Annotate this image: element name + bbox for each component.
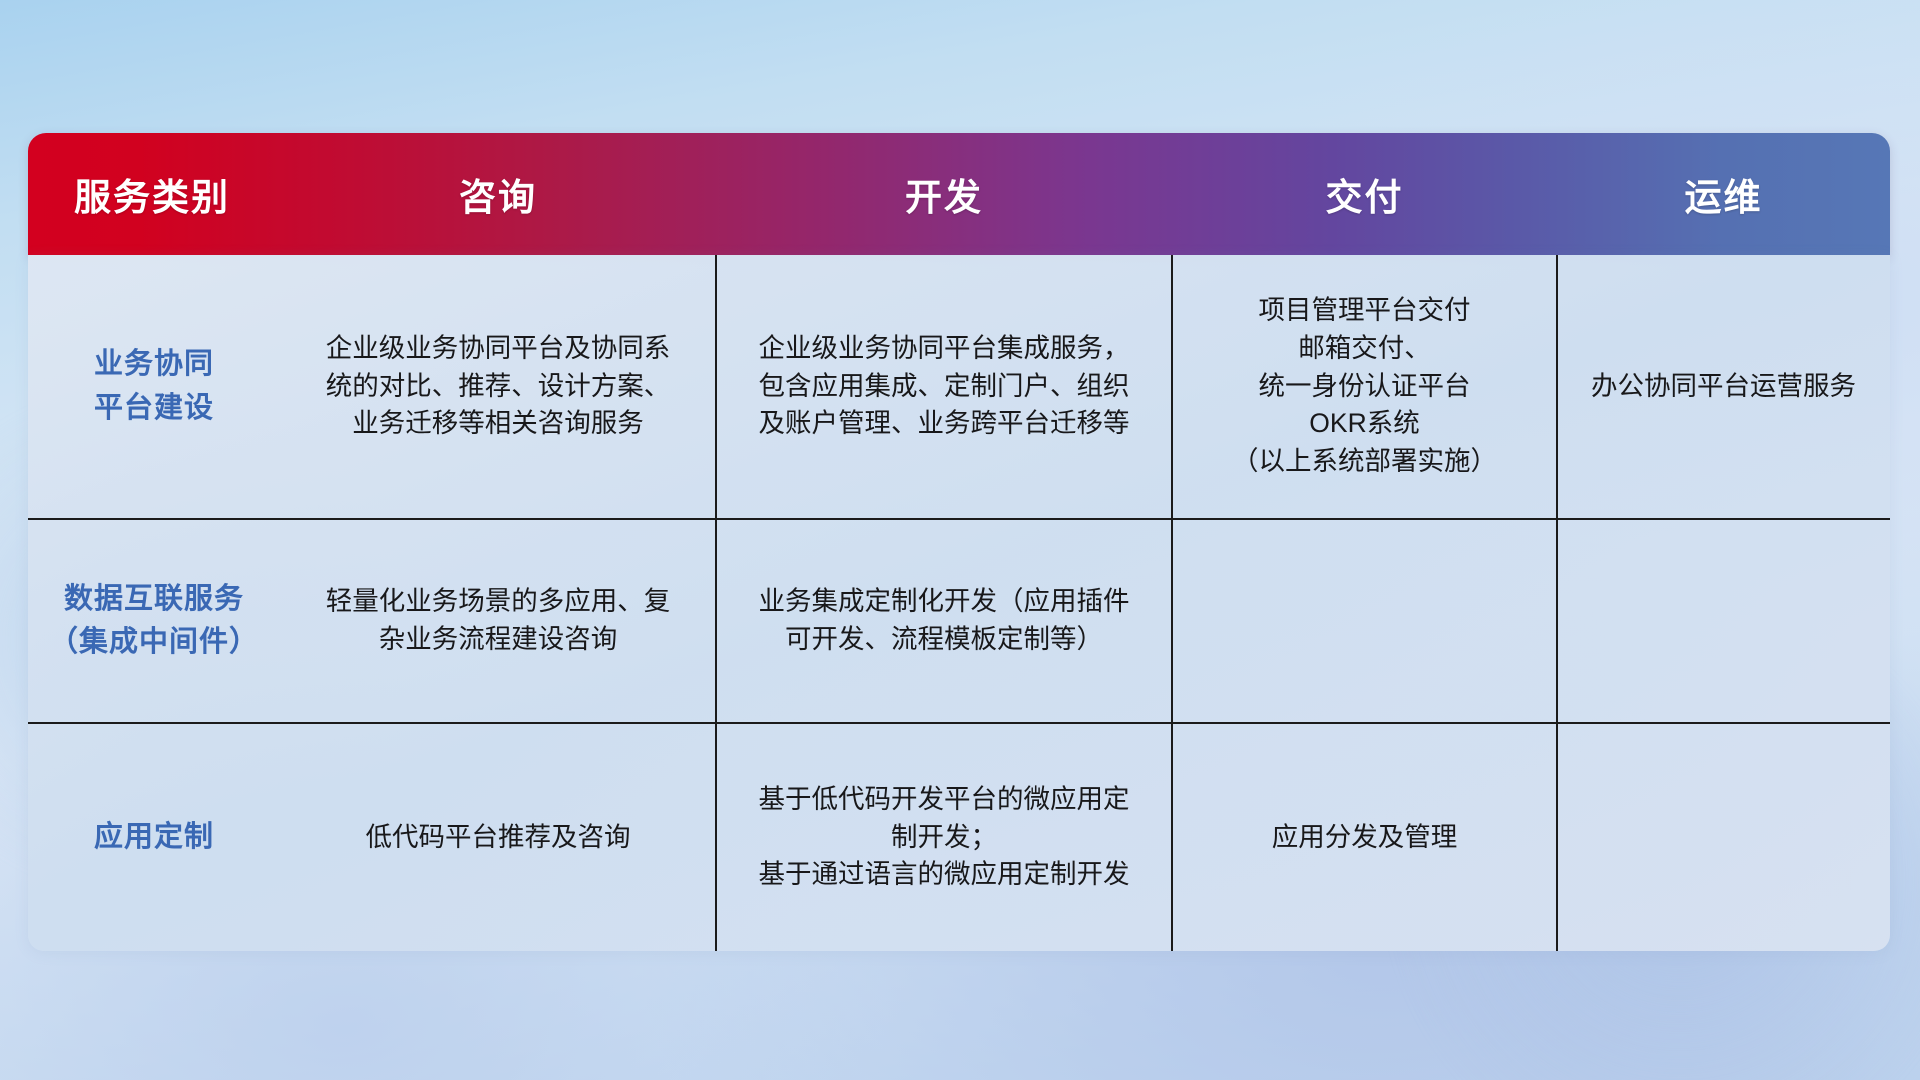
cell-row3-delivery: 应用分发及管理 (1172, 724, 1557, 951)
cell-row1-delivery: 项目管理平台交付 邮箱交付、 统一身份认证平台 OKR系统 （以上系统部署实施） (1172, 255, 1557, 518)
column-divider-1 (715, 255, 717, 951)
table-header-row: 服务类别 咨询 开发 交付 运维 (28, 133, 1890, 255)
table-row: 业务协同 平台建设 企业级业务协同平台及协同系 统的对比、推荐、设计方案、 业务… (28, 255, 1890, 518)
row-label-data-interconnect: 数据互联服务 （集成中间件） (28, 520, 280, 722)
cell-row2-delivery (1172, 520, 1557, 722)
row-label-business-collaboration: 业务协同 平台建设 (28, 255, 280, 518)
row-label-application-customization: 应用定制 (28, 724, 280, 951)
cell-row2-development: 业务集成定制化开发（应用插件 可开发、流程模板定制等） (716, 520, 1172, 722)
row-divider-2 (28, 722, 1890, 724)
table-header-operations-label: 运维 (1685, 167, 1763, 221)
cell-row2-operations (1557, 520, 1890, 722)
table-header-development-label: 开发 (905, 167, 983, 221)
table-header-consulting-label: 咨询 (459, 167, 537, 221)
cell-row3-development: 基于低代码开发平台的微应用定 制开发； 基于通过语言的微应用定制开发 (716, 724, 1172, 951)
cell-row3-operations (1557, 724, 1890, 951)
table-header-delivery: 交付 (1172, 133, 1557, 255)
table-header-delivery-label: 交付 (1326, 167, 1404, 221)
cell-row1-consulting: 企业级业务协同平台及协同系 统的对比、推荐、设计方案、 业务迁移等相关咨询服务 (280, 255, 716, 518)
table-header-development: 开发 (716, 133, 1172, 255)
table-header-service-category-label: 服务类别 (74, 167, 230, 221)
table-row: 数据互联服务 （集成中间件） 轻量化业务场景的多应用、复 杂业务流程建设咨询 业… (28, 520, 1890, 722)
cell-row2-consulting: 轻量化业务场景的多应用、复 杂业务流程建设咨询 (280, 520, 716, 722)
cell-row1-operations: 办公协同平台运营服务 (1557, 255, 1890, 518)
table-header-service-category: 服务类别 (28, 133, 280, 255)
table-header-consulting: 咨询 (280, 133, 716, 255)
column-divider-2 (1171, 255, 1173, 951)
service-category-table: 服务类别 咨询 开发 交付 运维 业务协同 平台建设 企业级业务协同平台及协同系… (28, 133, 1890, 951)
cell-row3-consulting: 低代码平台推荐及咨询 (280, 724, 716, 951)
table-row: 应用定制 低代码平台推荐及咨询 基于低代码开发平台的微应用定 制开发； 基于通过… (28, 724, 1890, 951)
table-header-operations: 运维 (1557, 133, 1890, 255)
table-body: 业务协同 平台建设 企业级业务协同平台及协同系 统的对比、推荐、设计方案、 业务… (28, 255, 1890, 951)
cell-row1-development: 企业级业务协同平台集成服务， 包含应用集成、定制门户、组织 及账户管理、业务跨平… (716, 255, 1172, 518)
row-divider-1 (28, 518, 1890, 520)
column-divider-3 (1556, 255, 1558, 951)
